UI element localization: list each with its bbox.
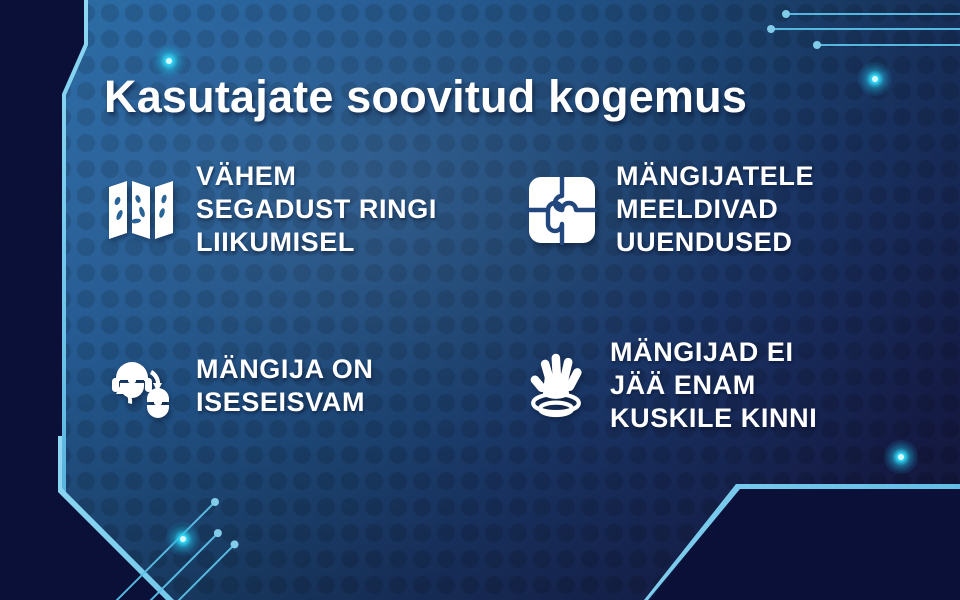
feature-label: VÄHEM SEGADUST RINGI LIIKUMISEL: [196, 160, 437, 259]
puzzle-pieces-icon: [524, 172, 600, 248]
feature-item-puzzle: MÄNGIJATELE MEELDIVAD UUENDUSED: [524, 160, 814, 259]
drowning-hand-icon: [518, 348, 594, 424]
feature-label: MÄNGIJA ON ISESEISVAM: [196, 353, 374, 419]
page-title: Kasutajate soovitud kogemus: [104, 72, 747, 122]
feature-item-stuck: MÄNGIJAD EI JÄÄ ENAM KUSKILE KINNI: [518, 336, 817, 435]
user-support-exchange-icon: [104, 348, 180, 424]
feature-label: MÄNGIJATELE MEELDIVAD UUENDUSED: [616, 160, 814, 259]
infographic-slide: Kasutajate soovitud kogemus: [0, 0, 960, 600]
feature-item-map: VÄHEM SEGADUST RINGI LIIKUMISEL: [104, 160, 437, 259]
feature-label: MÄNGIJAD EI JÄÄ ENAM KUSKILE KINNI: [610, 336, 817, 435]
folded-map-icon: [104, 172, 180, 248]
feature-item-support: MÄNGIJA ON ISESEISVAM: [104, 348, 374, 424]
